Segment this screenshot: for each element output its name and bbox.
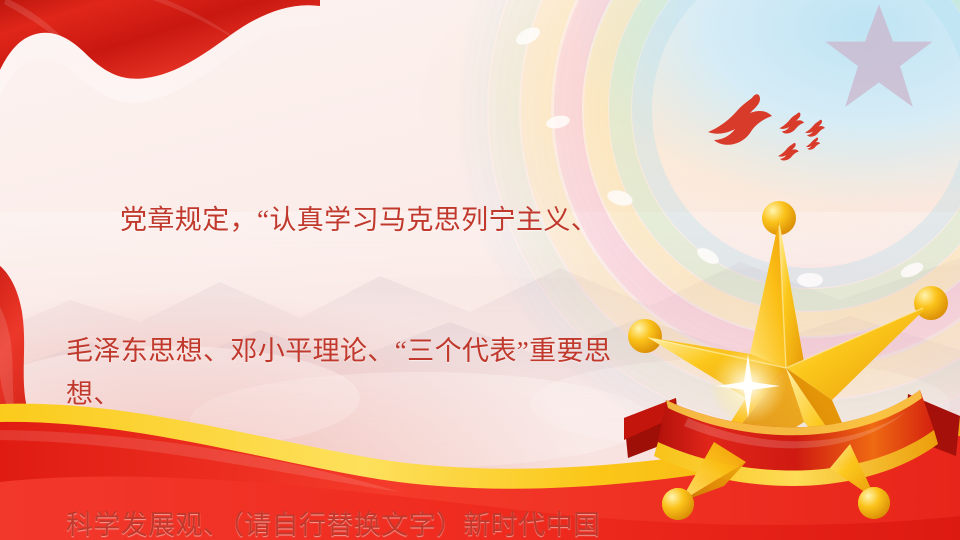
gold-five-point-star-emblem xyxy=(618,186,960,526)
body-line-3: 科学发展观、（请自行替换文字）新时代中国特色 xyxy=(66,504,622,540)
body-line-1: 党章规定，“认真学习马克思列宁主义、 xyxy=(66,199,622,243)
star-sparkle xyxy=(710,348,786,424)
presentation-slide: 党章规定，“认真学习马克思列宁主义、 毛泽东思想、邓小平理论、“三个代表”重要思… xyxy=(0,0,960,540)
body-line-2: 毛泽东思想、邓小平理论、“三个代表”重要思想、 xyxy=(66,330,622,417)
slide-body-text: 党章规定，“认真学习马克思列宁主义、 毛泽东思想、邓小平理论、“三个代表”重要思… xyxy=(66,112,622,540)
flying-doves xyxy=(700,88,870,178)
